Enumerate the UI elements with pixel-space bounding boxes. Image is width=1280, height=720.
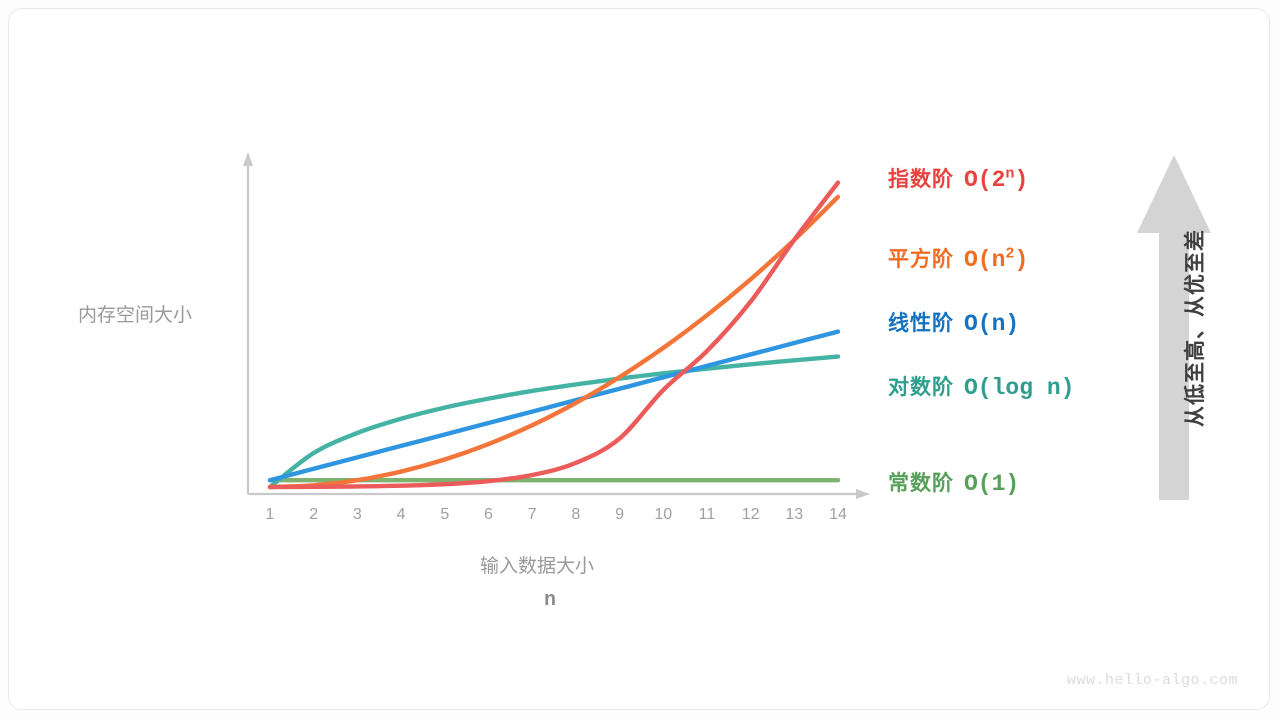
legend-item-linear: 线性阶O(n) [888,307,1019,337]
x-tick-9: 9 [605,506,635,524]
x-tick-6: 6 [473,506,503,524]
legend-label-constant: 常数阶 [888,472,954,495]
x-tick-12: 12 [736,506,766,524]
x-axis-title: 输入数据大小 [480,551,594,578]
x-axis-variable: n [544,589,556,612]
x-tick-3: 3 [342,506,372,524]
x-tick-4: 4 [386,506,416,524]
series-line-对数阶 O(log n) [270,357,838,487]
series-line-线性阶 O(n) [270,332,838,481]
x-tick-7: 7 [517,506,547,524]
x-axis [248,489,870,499]
y-axis-title: 内存空间大小 [78,300,192,327]
legend-item-quadratic: 平方阶O(n2) [888,243,1028,273]
legend-label-exponential: 指数阶 [888,168,954,191]
legend-notation-constant: O(1) [964,471,1019,497]
x-tick-1: 1 [255,506,285,524]
x-tick-11: 11 [692,506,722,524]
legend-notation-quadratic: O(n2) [964,247,1028,273]
legend-notation-exponential: O(2n) [964,167,1028,193]
legend-notation-linear: O(n) [964,311,1019,337]
screenshot-canvas: 内存空间大小 输入数据大小 n 1234567891011121314 指数阶O… [0,0,1280,720]
legend-notation-logarithmic: O(log n) [964,375,1074,401]
legend-label-logarithmic: 对数阶 [888,376,954,399]
x-tick-8: 8 [561,506,591,524]
legend-item-logarithmic: 对数阶O(log n) [888,371,1074,401]
chart-series-group [270,183,838,487]
legend-label-quadratic: 平方阶 [888,248,954,271]
x-tick-10: 10 [648,506,678,524]
legend-label-linear: 线性阶 [888,312,954,335]
watermark: www.hello-algo.com [1067,672,1238,689]
legend-item-constant: 常数阶O(1) [888,467,1019,497]
complexity-chart [0,0,1280,720]
legend-item-exponential: 指数阶O(2n) [888,163,1028,193]
x-tick-2: 2 [299,506,329,524]
x-tick-14: 14 [823,506,853,524]
y-axis [243,152,253,494]
x-tick-13: 13 [779,506,809,524]
series-line-指数阶 O(2ⁿ) [270,183,838,487]
series-line-平方阶 O(n²) [270,197,838,487]
quality-arrow-icon [1137,155,1211,500]
x-tick-5: 5 [430,506,460,524]
